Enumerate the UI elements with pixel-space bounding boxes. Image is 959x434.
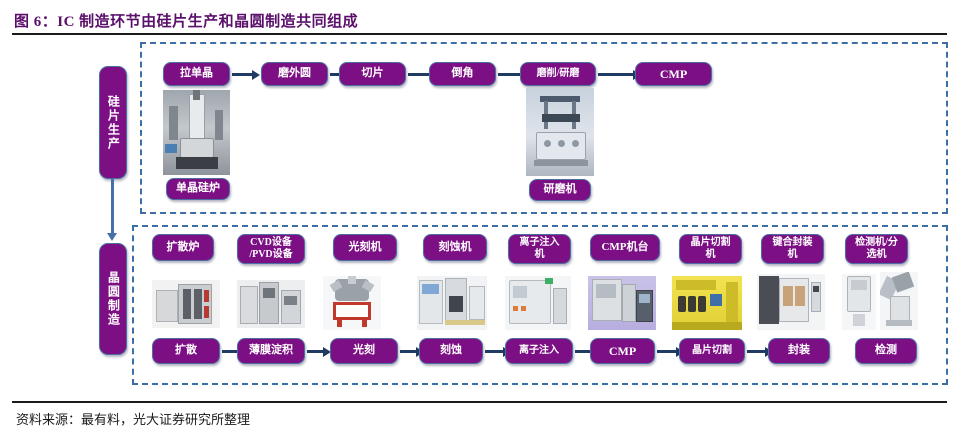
silicon-step-6[interactable]: CMP — [635, 62, 712, 86]
category-wafer-fabrication[interactable]: 晶圆制造 — [99, 243, 127, 355]
wafer-arrow-2 — [307, 350, 324, 353]
silicon-step-1[interactable]: 拉单晶 — [163, 62, 230, 86]
wafer-arrow-4 — [485, 350, 504, 353]
footer-divider — [12, 401, 947, 403]
wafer-equipment-3[interactable]: 光刻机 — [333, 234, 397, 261]
silicon-step-4[interactable]: 倒角 — [429, 62, 496, 86]
wafer-process-8[interactable]: 封装 — [768, 338, 830, 364]
photo-bonder-packaging — [842, 274, 876, 330]
photo-caption-crystal-puller[interactable]: 单晶硅炉 — [166, 178, 230, 200]
photo-ion-implanter — [588, 276, 656, 330]
photo-etcher — [505, 276, 571, 330]
photo-cvd-pvd-tool — [237, 280, 305, 328]
wafer-process-1[interactable]: 扩散 — [152, 338, 220, 364]
wafer-process-4[interactable]: 刻蚀 — [419, 338, 483, 364]
photo-lithography-track — [417, 276, 487, 330]
silicon-step-3[interactable]: 切片 — [339, 62, 406, 86]
category-silicon-production-label: 硅片生产 — [106, 95, 121, 151]
wafer-equipment-1[interactable]: 扩散炉 — [152, 234, 214, 261]
wafer-equipment-7[interactable]: 晶片切割 机 — [679, 234, 742, 264]
figure-title: 图 6：IC 制造环节由硅片生产和晶圆制造共同组成 — [14, 10, 358, 31]
wafer-equipment-2[interactable]: CVD设备 /PVD设备 — [237, 234, 305, 264]
wafer-equipment-6[interactable]: CMP机台 — [590, 234, 660, 261]
silicon-arrow-3 — [408, 73, 431, 76]
silicon-arrow-4 — [498, 73, 522, 76]
photo-crystal-puller — [163, 90, 230, 175]
wafer-equipment-4[interactable]: 刻蚀机 — [423, 234, 487, 261]
wafer-process-5[interactable]: 离子注入 — [505, 338, 573, 364]
photo-diffusion-furnace — [152, 280, 220, 328]
title-divider — [12, 33, 947, 35]
wafer-process-2[interactable]: 薄膜淀积 — [237, 338, 305, 364]
photo-tester-sorter — [880, 272, 918, 330]
silicon-arrow-1 — [232, 73, 253, 76]
wafer-process-3[interactable]: 光刻 — [330, 338, 398, 364]
category-wafer-fabrication-label: 晶圆制造 — [106, 271, 121, 327]
photo-caption-wafer-grinder[interactable]: 研磨机 — [529, 179, 591, 201]
category-connector-arrow — [111, 179, 114, 234]
photo-cmp-polisher — [672, 276, 742, 330]
photo-dicing-saw — [757, 274, 825, 330]
wafer-arrow-7 — [747, 350, 766, 353]
wafer-process-7[interactable]: 晶片切割 — [679, 338, 745, 364]
silicon-step-2[interactable]: 磨外圆 — [261, 62, 328, 86]
wafer-arrow-3 — [400, 350, 417, 353]
source-note: 资料来源：最有料，光大证券研究所整理 — [16, 409, 250, 428]
silicon-step-5[interactable]: 磨削/研磨 — [520, 62, 596, 86]
wafer-equipment-9[interactable]: 检测机/分 选机 — [845, 234, 908, 264]
wafer-equipment-5[interactable]: 离子注入 机 — [508, 234, 571, 264]
wafer-arrow-6 — [657, 350, 677, 353]
wafer-process-9[interactable]: 检测 — [855, 338, 917, 364]
wafer-process-6[interactable]: CMP — [590, 338, 655, 364]
photo-pvd-chamber — [323, 276, 381, 330]
silicon-arrow-5 — [598, 73, 634, 76]
wafer-equipment-8[interactable]: 键合封装 机 — [761, 234, 824, 264]
category-silicon-production[interactable]: 硅片生产 — [99, 66, 127, 179]
photo-wafer-grinder — [526, 88, 594, 176]
